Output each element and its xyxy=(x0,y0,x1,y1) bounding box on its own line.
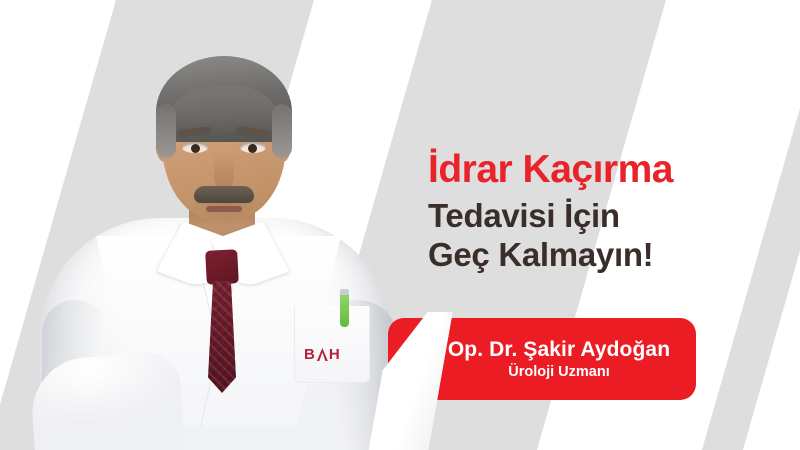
peak-icon xyxy=(317,348,328,361)
doctor-specialty: Üroloji Uzmanı xyxy=(474,364,610,380)
doctor-name: Op. Dr. Şakir Aydoğan xyxy=(414,338,670,362)
necktie xyxy=(208,281,236,393)
headline-line-3: Geç Kalmayın! xyxy=(428,236,788,275)
pupil-right xyxy=(248,144,257,153)
chin-shading xyxy=(190,200,260,224)
headline-line-1: İdrar Kaçırma xyxy=(428,150,788,189)
necktie-knot xyxy=(205,249,239,285)
pen-icon xyxy=(340,289,349,327)
logo-letter-b: B xyxy=(304,346,316,363)
headline-block: İdrar Kaçırma Tedavisi İçin Geç Kalmayın… xyxy=(428,150,788,275)
coat-chest-pocket xyxy=(294,306,370,383)
hospital-logo: B H xyxy=(304,346,341,363)
headline-line-2: Tedavisi İçin xyxy=(428,197,788,236)
logo-letter-h: H xyxy=(329,346,341,363)
doctor-portrait-photo: B H xyxy=(22,0,422,450)
nose xyxy=(214,152,234,188)
hair-temple-left xyxy=(156,104,176,158)
promo-banner: B H İdrar Kaçırma Tedavisi İçin Geç Kalm… xyxy=(0,0,800,450)
pupil-left xyxy=(191,144,200,153)
moustache xyxy=(194,186,254,203)
hair-temple-right xyxy=(272,104,292,158)
mouth xyxy=(206,206,242,212)
